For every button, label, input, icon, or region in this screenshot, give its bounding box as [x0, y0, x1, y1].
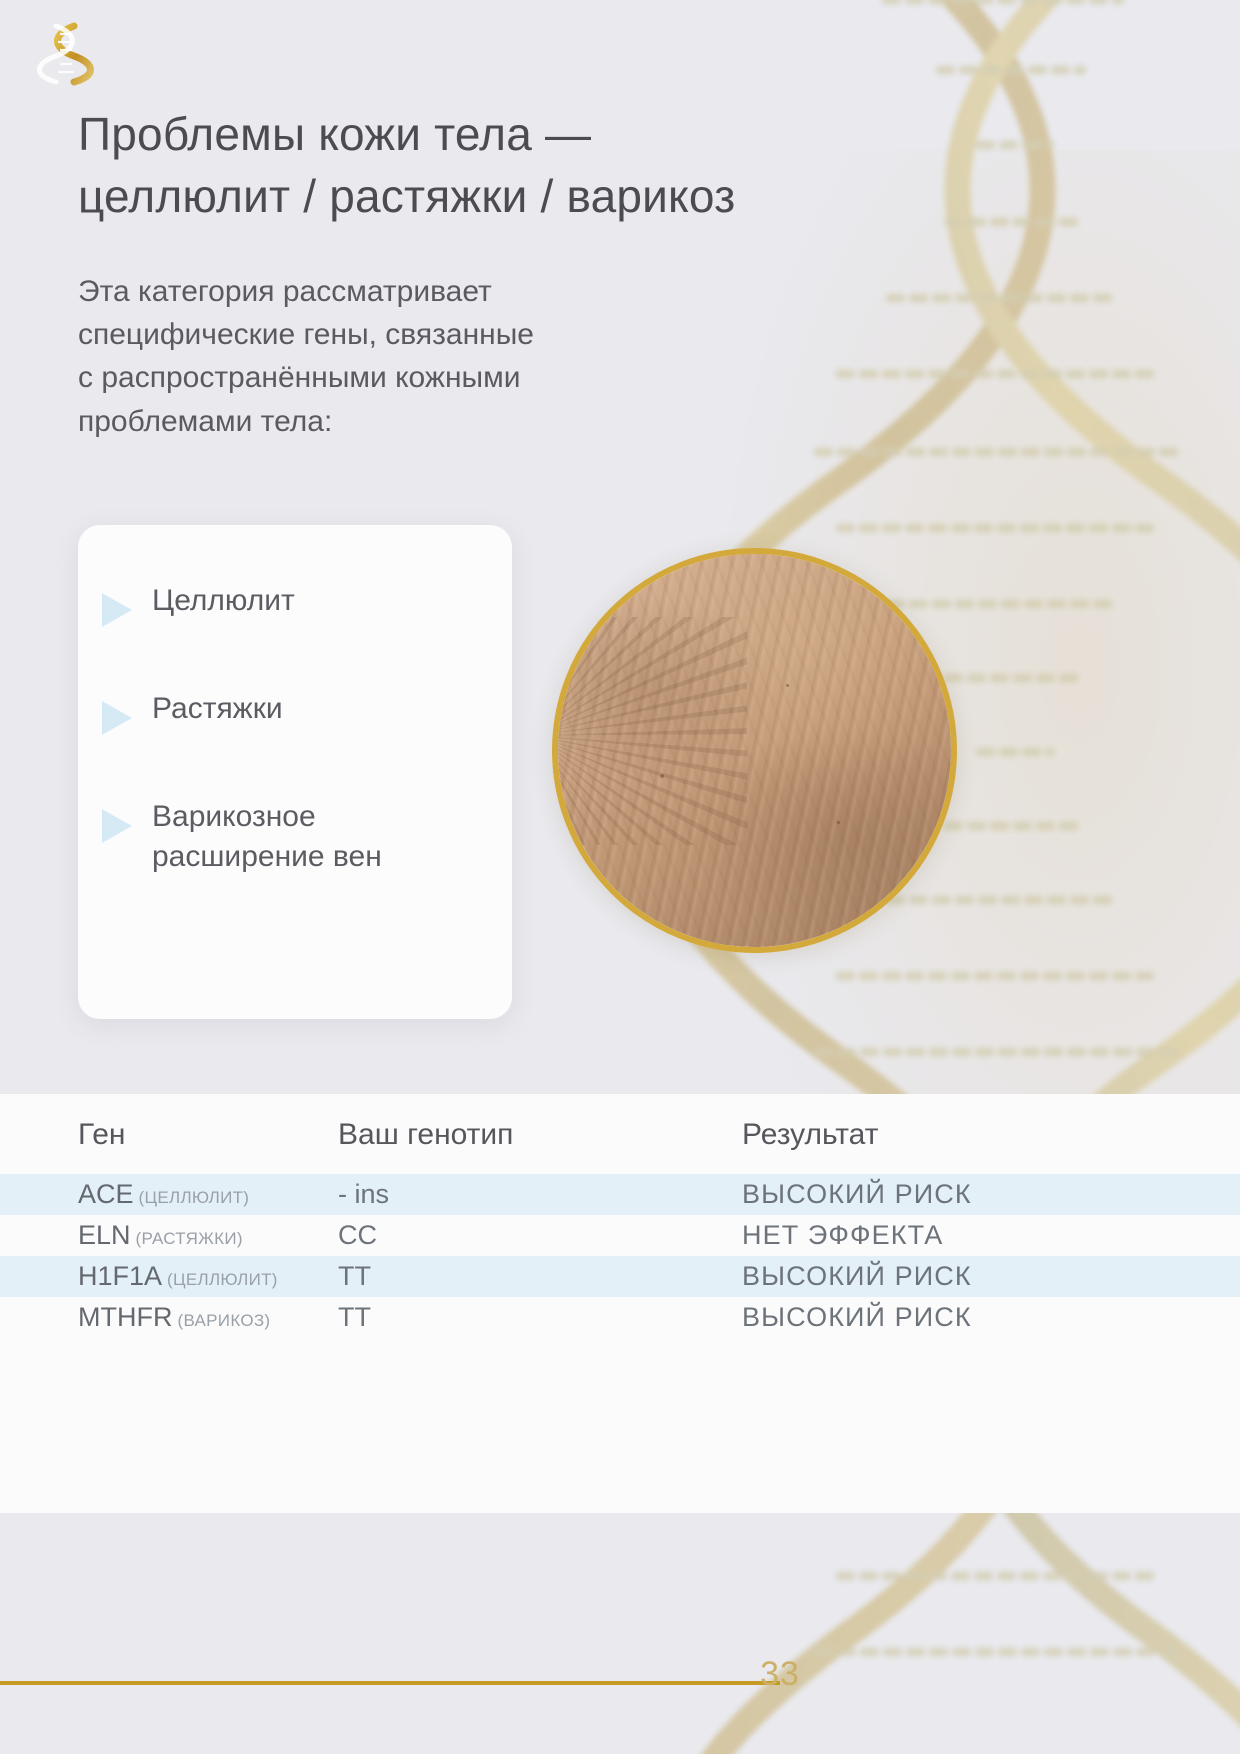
intro-paragraph: Эта категория рассматривает специфически…: [78, 270, 798, 443]
cell-result: ВЫСОКИЙ РИСК: [730, 1174, 1240, 1215]
cell-gene: ELN(РАСТЯЖКИ): [0, 1215, 330, 1256]
intro-line-4: проблемами тела:: [78, 400, 798, 443]
cell-result: ВЫСОКИЙ РИСК: [730, 1297, 1240, 1338]
list-item: Растяжки: [102, 689, 482, 735]
results-table-band: Ген Ваш генотип Результат ACE(ЦЕЛЛЮЛИТ) …: [0, 1094, 1240, 1513]
column-header-result: Результат: [730, 1094, 1240, 1174]
slide-page: Проблемы кожи тела — целлюлит / растяжки…: [0, 0, 1240, 1754]
intro-line-1: Эта категория рассматривает: [78, 270, 798, 313]
photo-speck: [786, 684, 789, 687]
skin-cellulite-photo: [552, 548, 957, 953]
list-item-label: Растяжки: [152, 689, 283, 729]
column-header-genotype: Ваш генотип: [330, 1094, 730, 1174]
cell-gene: ACE(ЦЕЛЛЮЛИТ): [0, 1174, 330, 1215]
cell-result: НЕТ ЭФФЕКТА: [730, 1215, 1240, 1256]
triangle-right-icon: [102, 593, 132, 627]
conditions-card: Целлюлит Растяжки Варикозное расширение …: [78, 525, 512, 1019]
column-header-gene: Ген: [0, 1094, 330, 1174]
table-row: MTHFR(ВАРИКОЗ) TT ВЫСОКИЙ РИСК: [0, 1297, 1240, 1338]
triangle-right-icon: [102, 701, 132, 735]
intro-line-3: с распространёнными кожными: [78, 356, 798, 399]
cell-genotype: CC: [330, 1215, 730, 1256]
table-row: H1F1A(ЦЕЛЛЮЛИТ) TT ВЫСОКИЙ РИСК: [0, 1256, 1240, 1297]
gene-name: H1F1A: [78, 1261, 162, 1291]
cell-genotype: TT: [330, 1297, 730, 1338]
photo-skin-fold: [552, 617, 747, 845]
cell-genotype: - ins: [330, 1174, 730, 1215]
results-table: Ген Ваш генотип Результат ACE(ЦЕЛЛЮЛИТ) …: [0, 1094, 1240, 1338]
triangle-right-icon: [102, 809, 132, 843]
list-item-label: Целлюлит: [152, 581, 295, 621]
gene-note: (РАСТЯЖКИ): [136, 1229, 243, 1248]
list-item: Варикозное расширение вен: [102, 797, 482, 876]
gene-name: MTHFR: [78, 1302, 172, 1332]
cell-genotype: TT: [330, 1256, 730, 1297]
footer-rule: [0, 1681, 780, 1685]
list-item-label: Варикозное расширение вен: [152, 797, 482, 876]
intro-line-2: специфические гены, связанные: [78, 313, 798, 356]
gene-note: (ЦЕЛЛЮЛИТ): [167, 1270, 278, 1289]
gene-name: ELN: [78, 1220, 131, 1250]
page-title-line-2: целлюлит / растяжки / варикоз: [78, 170, 735, 222]
cell-gene: H1F1A(ЦЕЛЛЮЛИТ): [0, 1256, 330, 1297]
table-row: ELN(РАСТЯЖКИ) CC НЕТ ЭФФЕКТА: [0, 1215, 1240, 1256]
cell-gene: MTHFR(ВАРИКОЗ): [0, 1297, 330, 1338]
table-row: ACE(ЦЕЛЛЮЛИТ) - ins ВЫСОКИЙ РИСК: [0, 1174, 1240, 1215]
page-number: 33: [735, 1655, 825, 1694]
list-item: Целлюлит: [102, 581, 482, 627]
gene-note: (ЦЕЛЛЮЛИТ): [139, 1188, 250, 1207]
cell-result: ВЫСОКИЙ РИСК: [730, 1256, 1240, 1297]
gene-note: (ВАРИКОЗ): [177, 1311, 270, 1330]
gene-name: ACE: [78, 1179, 134, 1209]
table-header-row: Ген Ваш генотип Результат: [0, 1094, 1240, 1174]
dna-helix-icon: [34, 18, 96, 88]
page-title-line-1: Проблемы кожи тела —: [78, 108, 591, 160]
page-title: Проблемы кожи тела — целлюлит / растяжки…: [78, 104, 958, 227]
